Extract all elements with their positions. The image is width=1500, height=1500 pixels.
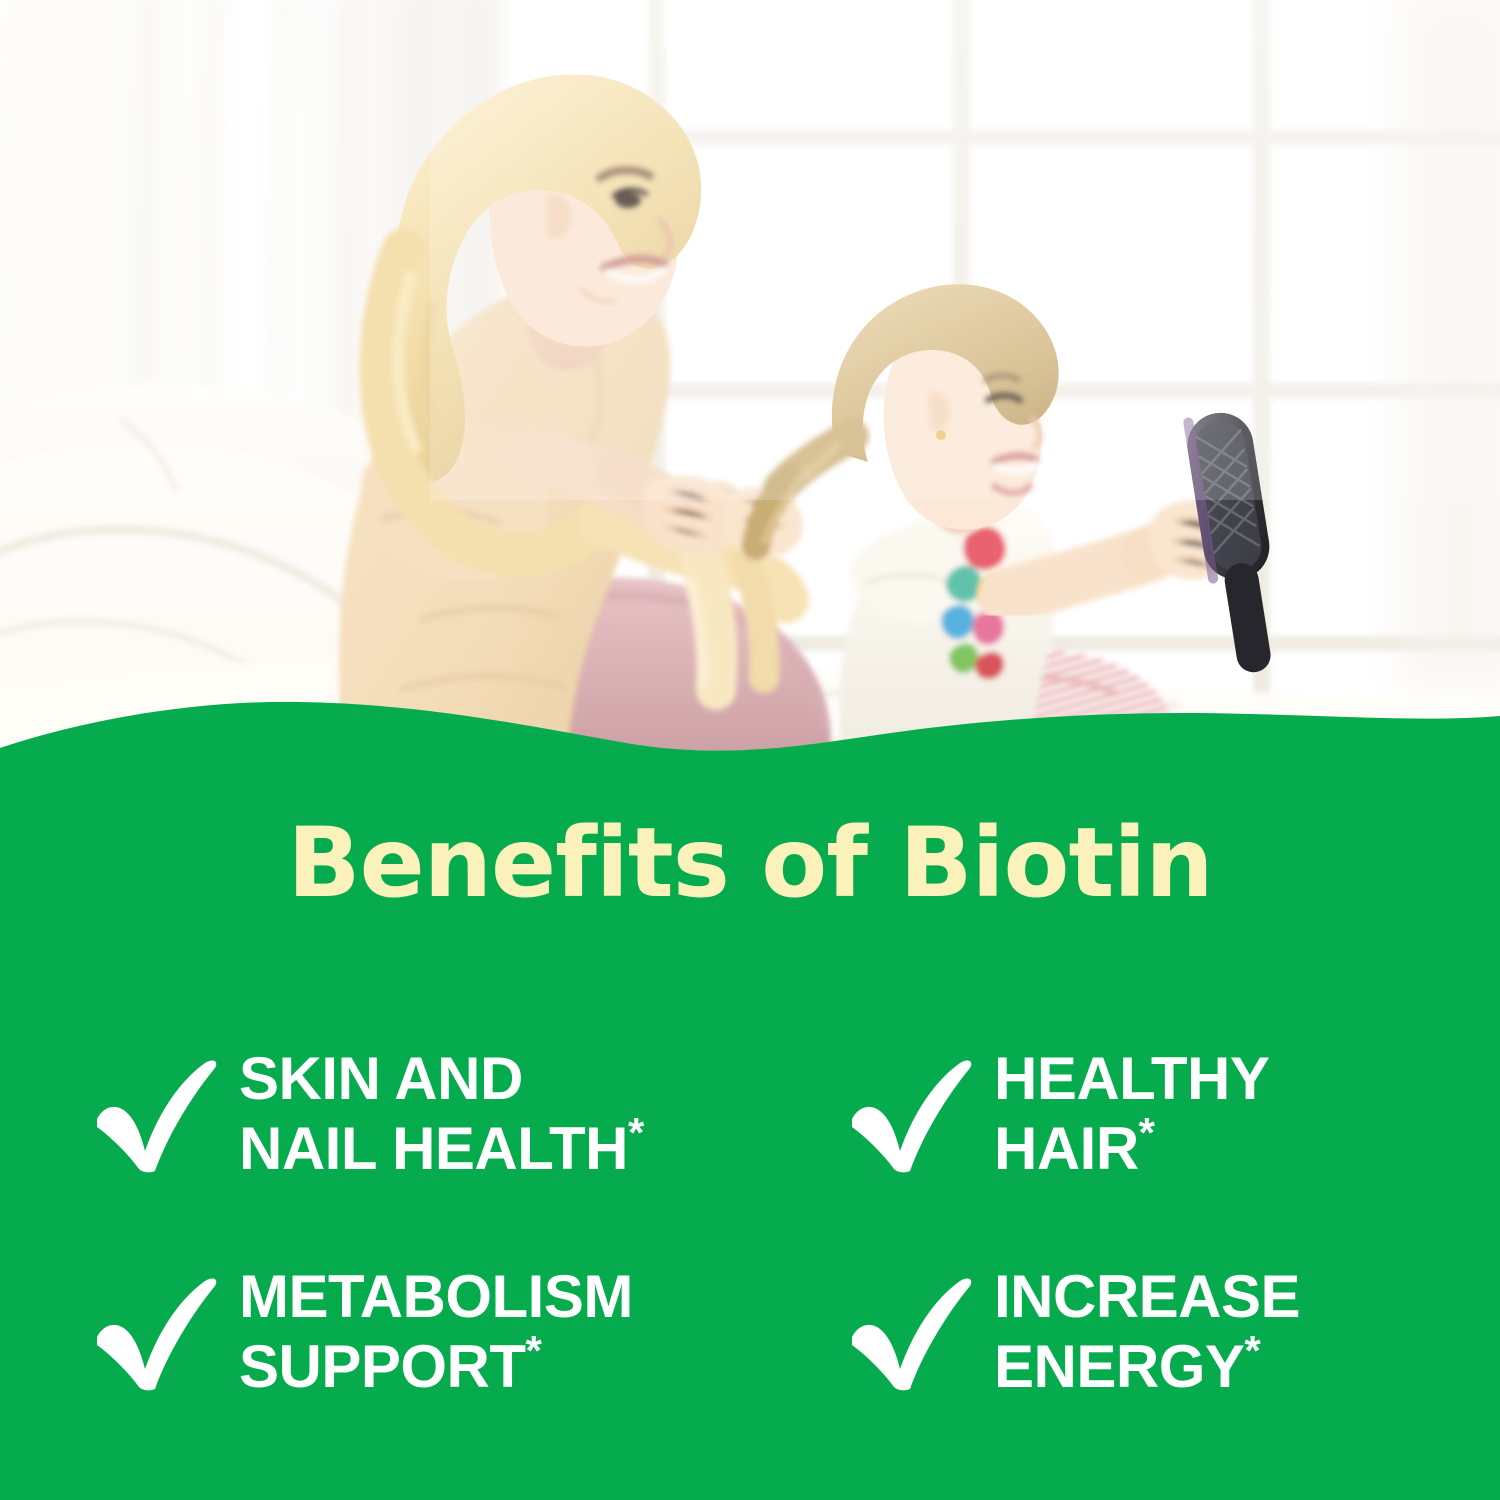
benefit-healthy-hair: HEALTHYHAIR* [850, 1005, 1435, 1223]
benefit-label: METABOLISMSUPPORT* [239, 1265, 633, 1399]
checkmark-icon [850, 1055, 980, 1173]
product-benefits-infographic: Benefits of Biotin SKIN ANDNAIL HEALTH* [0, 0, 1500, 1500]
benefit-label: HEALTHYHAIR* [994, 1047, 1269, 1181]
benefit-metabolism-support: METABOLISMSUPPORT* [95, 1223, 850, 1441]
panel-content: Benefits of Biotin SKIN ANDNAIL HEALTH* [0, 790, 1500, 1500]
benefit-increase-energy: INCREASEENERGY* [850, 1223, 1435, 1441]
benefit-label: INCREASEENERGY* [994, 1265, 1300, 1399]
lifestyle-photo [0, 0, 1500, 790]
checkmark-icon [95, 1055, 225, 1173]
checkmark-icon [95, 1273, 225, 1391]
benefit-label: SKIN ANDNAIL HEALTH* [239, 1047, 644, 1181]
benefits-grid: SKIN ANDNAIL HEALTH* HEALTHYHAIR* [95, 1005, 1435, 1441]
checkmark-icon [850, 1273, 980, 1391]
benefit-skin-and-nail-health: SKIN ANDNAIL HEALTH* [95, 1005, 850, 1223]
page-title: Benefits of Biotin [0, 815, 1500, 911]
